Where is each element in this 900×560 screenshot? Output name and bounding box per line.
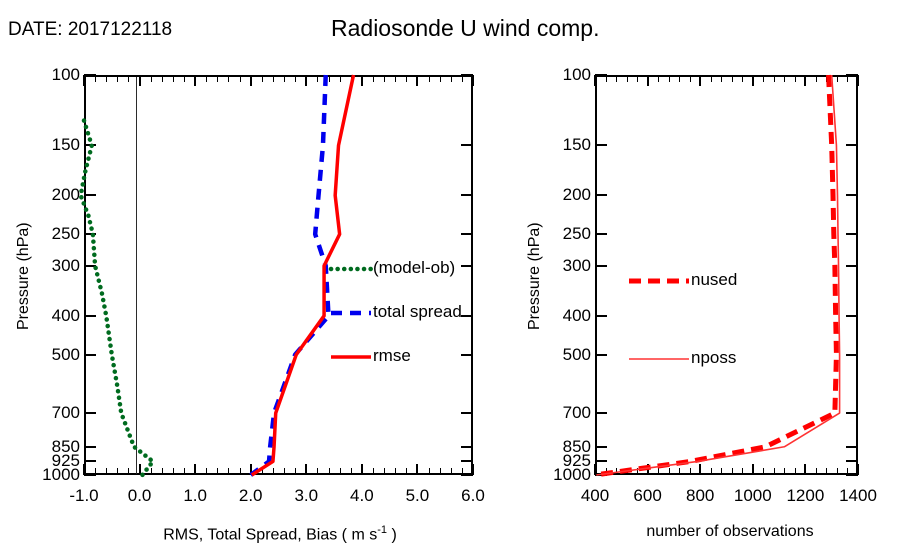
legend-swatch-nused xyxy=(628,274,690,288)
right-x-axis-title: number of observations xyxy=(605,524,855,540)
legend-label: nposs xyxy=(691,349,736,366)
right-panel: Pressure (hPa) 1001502002503004005007008… xyxy=(0,0,900,560)
legend-swatch-nposs xyxy=(628,352,690,366)
x-tick-label: 1400 xyxy=(818,487,898,504)
right-legend: nusednposs xyxy=(628,270,808,380)
legend-label: nused xyxy=(691,271,737,288)
figure-canvas: DATE: 2017122118 Radiosonde U wind comp.… xyxy=(0,0,900,560)
